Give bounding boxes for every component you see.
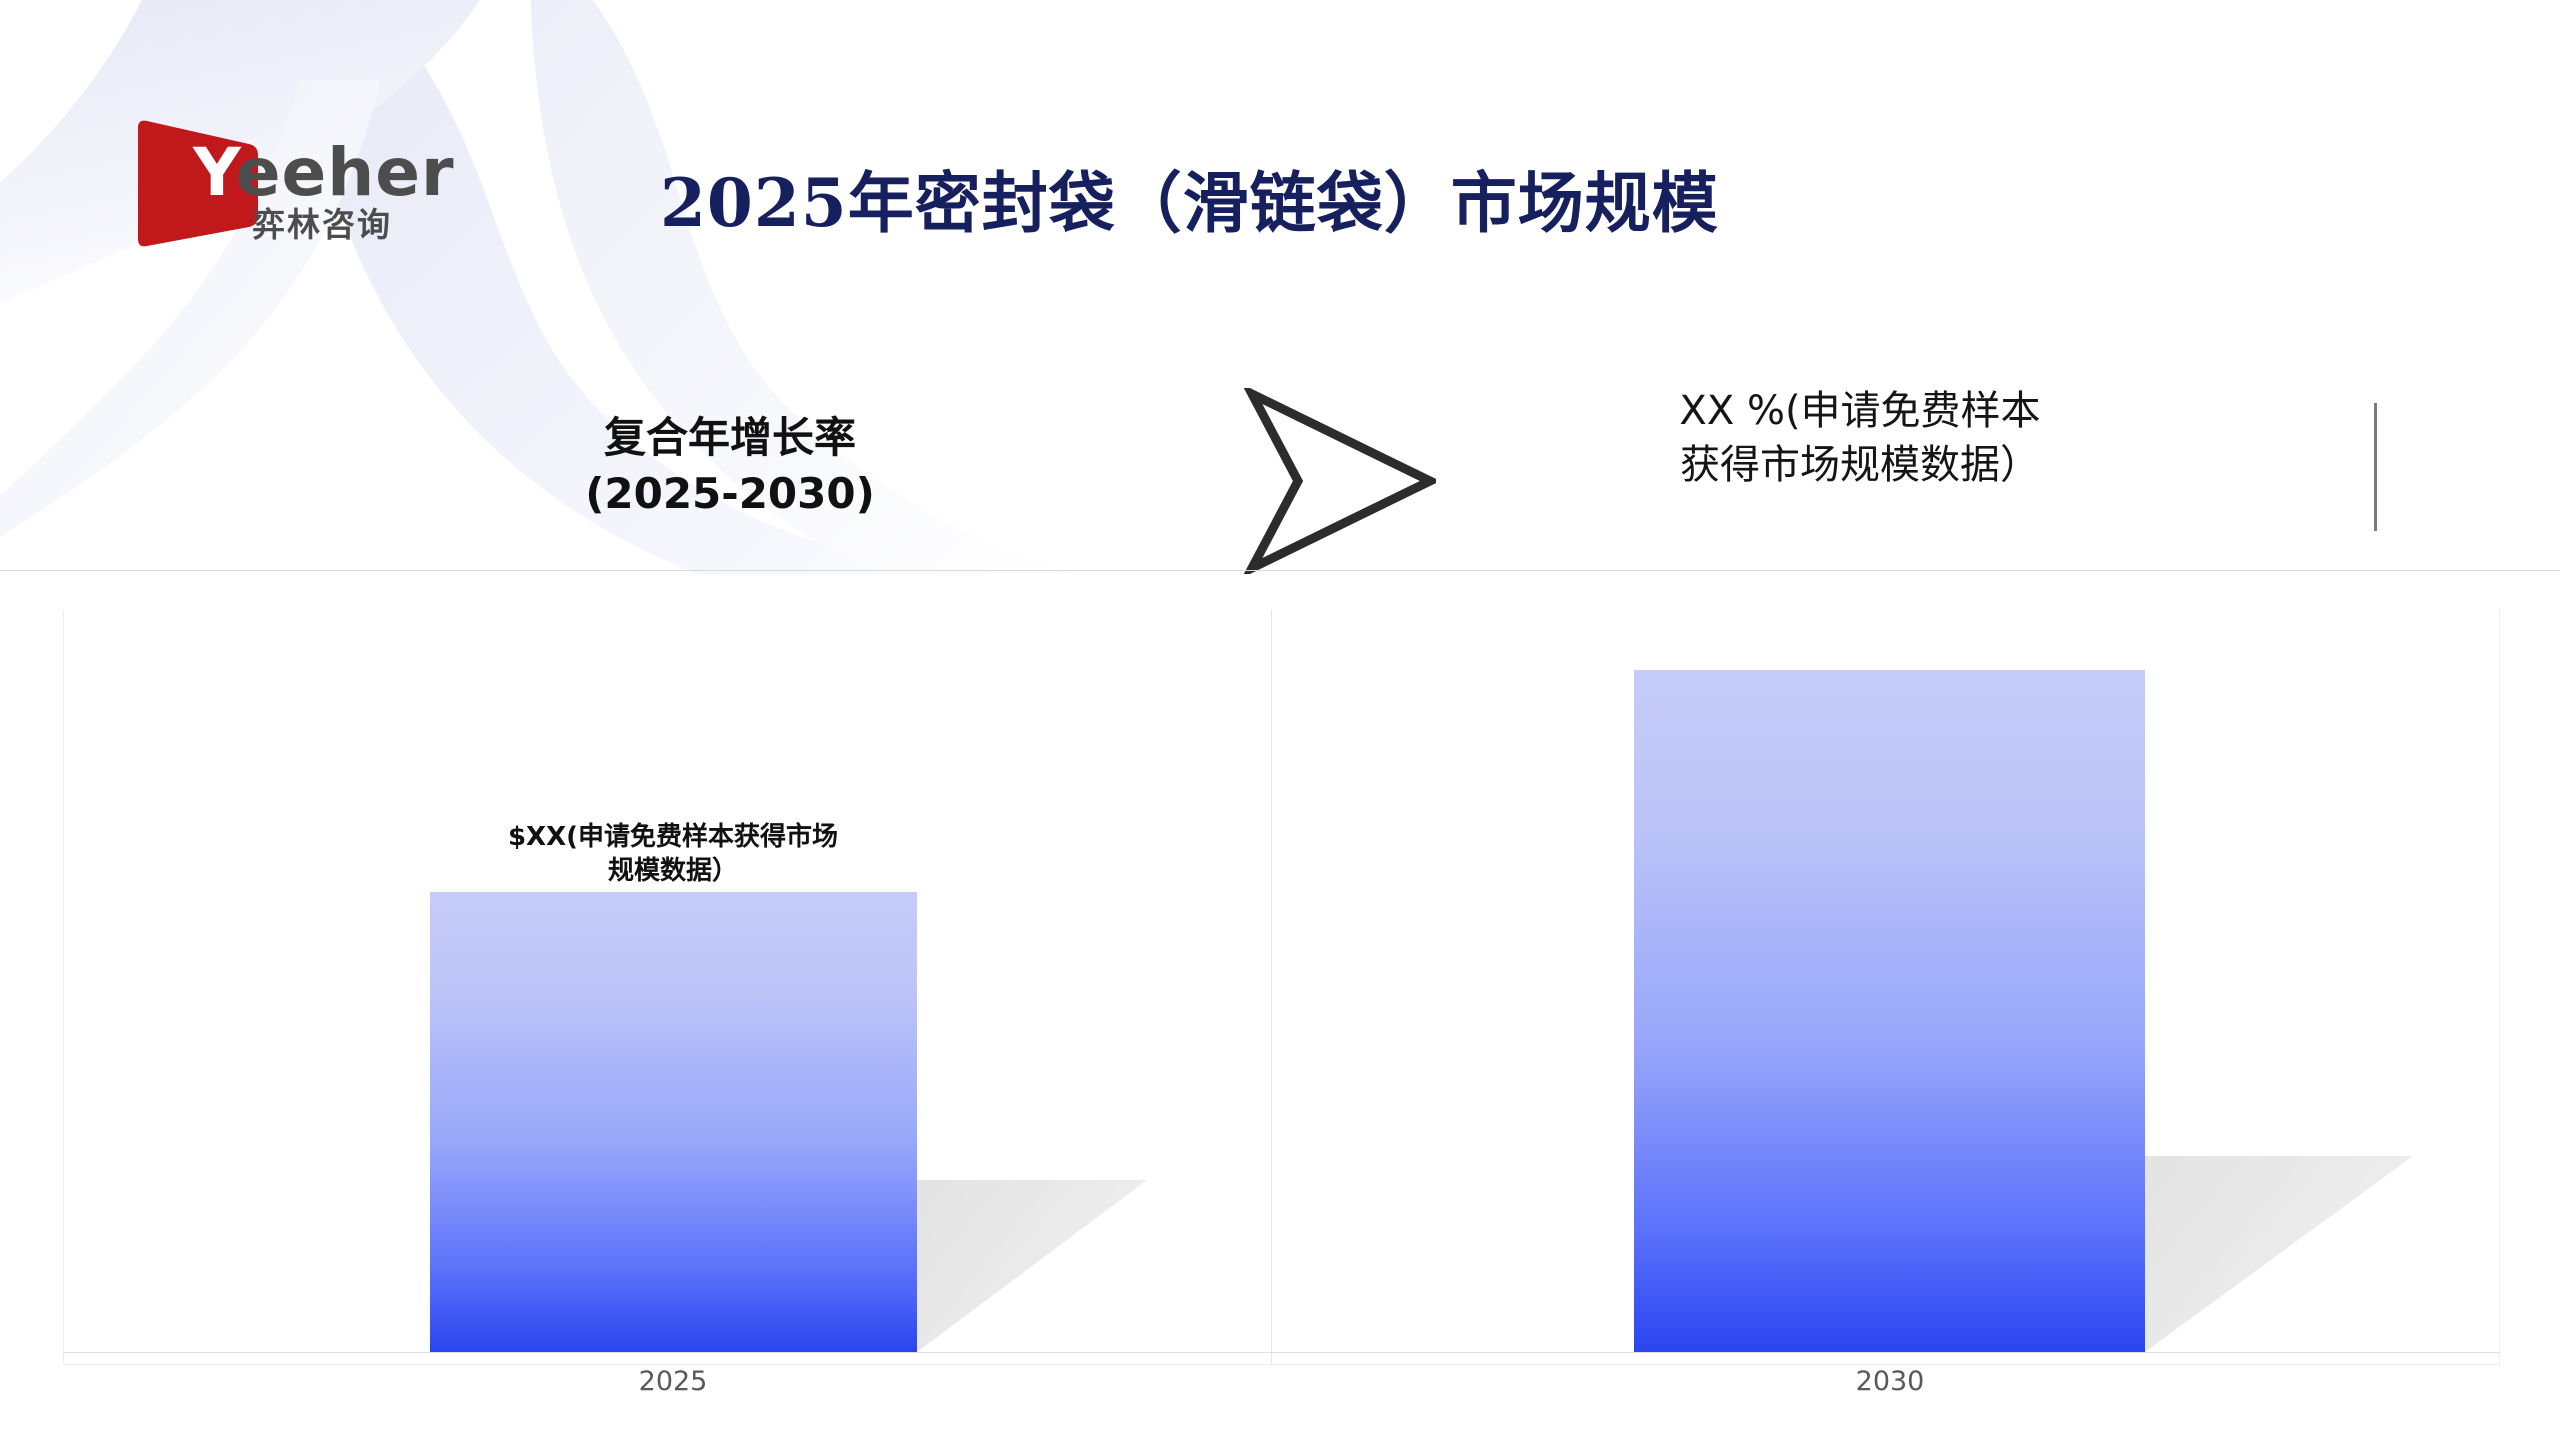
bar-value-label-2025-line2: 规模数据） [418, 854, 928, 888]
x-axis-label-2030: 2030 [1740, 1368, 2040, 1395]
page-title: 2025年密封袋（滑链袋）市场规模 [660, 166, 1719, 242]
cagr-label-line2: (2025-2030) [480, 466, 980, 522]
slide-canvas: Yeeher 弈林咨询 2025年密封袋（滑链袋）市场规模 复合年增长率 (20… [0, 0, 2560, 1440]
cagr-value-note: XX %(申请免费样本 获得市场规模数据） [1600, 385, 2120, 492]
x-axis-label-2025: 2025 [523, 1368, 823, 1395]
logo-wordmark-rest: eeher [236, 134, 455, 211]
arrow-right-outline-icon [1236, 388, 1436, 574]
brand-logo: Yeeher 弈林咨询 [130, 112, 470, 252]
bar-2030[interactable] [1634, 670, 2145, 1352]
cagr-label: 复合年增长率 (2025-2030) [480, 410, 980, 523]
logo-subtitle-cn: 弈林咨询 [252, 208, 392, 241]
logo-wordmark: Yeeher [193, 140, 455, 206]
chart-panel-split-divider [1271, 610, 1272, 1365]
cagr-value-line1: XX %(申请免费样本 [1600, 385, 2120, 439]
bar-value-label-2025: $XX(申请免费样本获得市场 规模数据） [418, 820, 928, 889]
right-vertical-divider [2374, 403, 2377, 531]
header-divider-rule [0, 570, 2560, 571]
cagr-value-line2: 获得市场规模数据） [1600, 439, 2120, 493]
chart-baseline-axis [63, 1352, 2500, 1353]
logo-wordmark-initial: Y [193, 134, 236, 211]
bar-value-label-2025-line1: $XX(申请免费样本获得市场 [418, 820, 928, 854]
bar-2025[interactable] [430, 892, 917, 1352]
cagr-label-line1: 复合年增长率 [480, 410, 980, 466]
